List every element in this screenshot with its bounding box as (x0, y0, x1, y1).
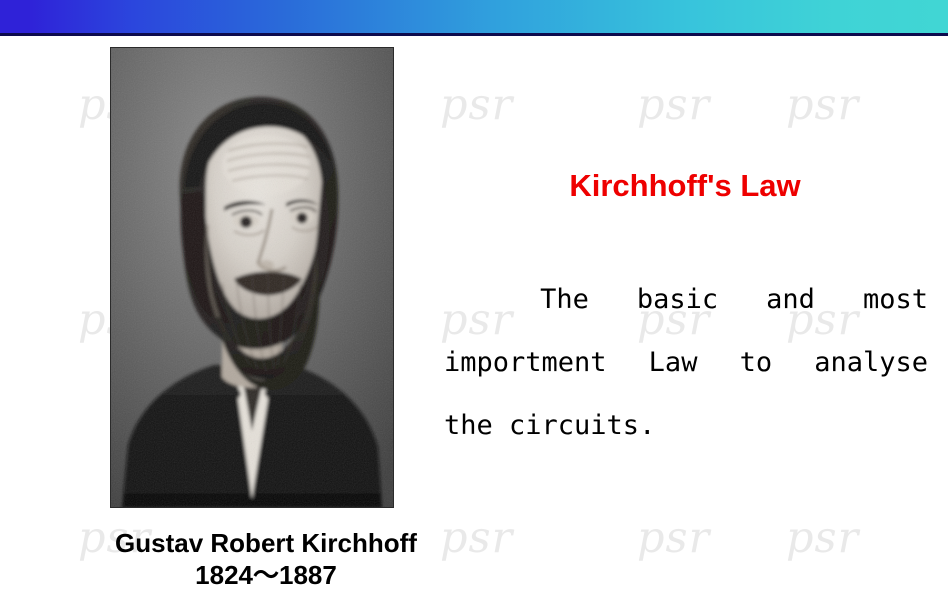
watermark-psr: psr (786, 513, 859, 563)
watermark-psr: psr (440, 80, 513, 130)
watermark-psr: psr (786, 80, 859, 130)
top-gradient-banner (0, 0, 948, 33)
kirchhoff-portrait-photo (110, 47, 394, 508)
page-title: Kirchhoff's Law (440, 168, 930, 204)
watermark-psr: psr (637, 513, 710, 563)
body-paragraph: The basic and most importment Law to ana… (444, 268, 928, 457)
banner-bottom-rule (0, 33, 948, 36)
slide: psr psr psr psr psr psr psr psr psr psr … (0, 0, 948, 613)
caption-years: 1824～1887 (56, 559, 476, 591)
body-line: importment Law to analyse (444, 331, 928, 394)
caption-name: Gustav Robert Kirchhoff (56, 527, 476, 559)
body-line: The basic and most (444, 268, 928, 331)
body-line: the circuits. (444, 394, 928, 457)
watermark-psr: psr (637, 80, 710, 130)
portrait-caption: Gustav Robert Kirchhoff 1824～1887 (56, 527, 476, 591)
